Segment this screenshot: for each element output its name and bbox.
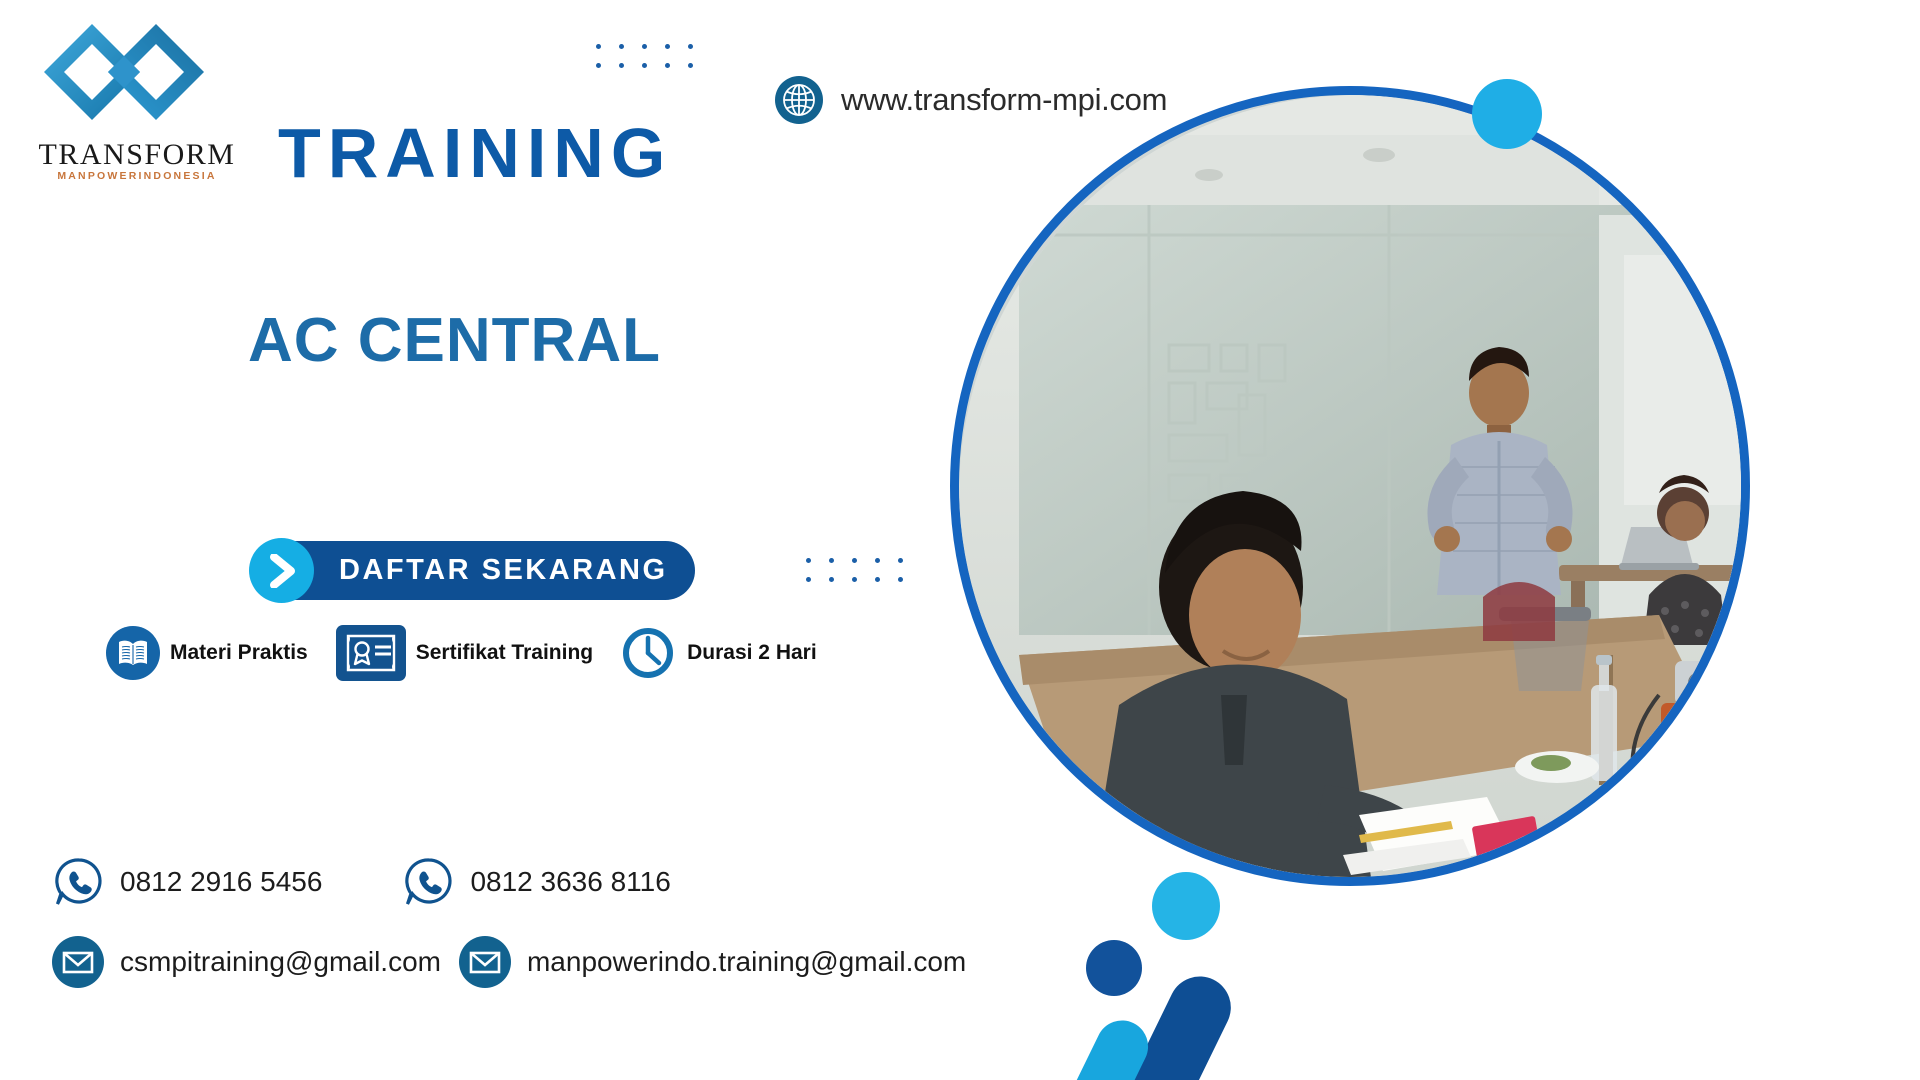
- feature-item-sertifikat-training: Sertifikat Training: [336, 625, 593, 681]
- dot: [619, 63, 624, 68]
- feature-item-durasi: Durasi 2 Hari: [621, 626, 817, 680]
- dot: [852, 558, 857, 563]
- dot: [619, 44, 624, 49]
- training-classroom-photo: [950, 86, 1750, 886]
- page-title-eyebrow: TRAINING: [278, 118, 672, 188]
- email-address[interactable]: csmpitraining@gmail.com: [120, 946, 441, 978]
- transform-diamond-icon: [44, 18, 209, 138]
- dot: [642, 63, 647, 68]
- email-address[interactable]: manpowerindo.training@gmail.com: [527, 946, 966, 978]
- email-row: csmpitraining@gmail.com manpowerindo.tra…: [52, 925, 966, 999]
- register-now-button[interactable]: DAFTAR SEKARANG: [251, 541, 695, 600]
- feature-label: Durasi 2 Hari: [687, 641, 817, 665]
- register-now-label: DAFTAR SEKARANG: [339, 554, 668, 587]
- feature-label: Sertifikat Training: [416, 641, 593, 665]
- certificate-icon: [336, 625, 406, 681]
- flyer-canvas: TRANSFORM MANPOWERINDONESIA www: [0, 0, 1920, 1080]
- dot: [852, 577, 857, 582]
- dot: [642, 44, 647, 49]
- contact-block: 0812 2916 5456 0812 3636 8116 csmpitrain…: [52, 845, 966, 999]
- logo-wordmark: TRANSFORM: [30, 140, 244, 170]
- dot: [898, 558, 903, 563]
- dot: [665, 44, 670, 49]
- photo-illustration: [959, 95, 1741, 877]
- dot: [875, 558, 880, 563]
- cyan-circle-decor: [1472, 79, 1542, 149]
- abstract-people-decor: [1010, 818, 1370, 1080]
- feature-item-materi-praktis: Materi Praktis: [106, 626, 308, 680]
- dot: [665, 63, 670, 68]
- website-row[interactable]: www.transform-mpi.com: [775, 76, 1167, 124]
- feature-list: Materi Praktis Sertifikat Training: [106, 625, 817, 681]
- page-title-topic: AC CENTRAL: [248, 310, 661, 372]
- whatsapp-phone-icon: [402, 855, 456, 909]
- dot: [829, 558, 834, 563]
- website-url[interactable]: www.transform-mpi.com: [841, 82, 1167, 118]
- contact-email-1[interactable]: csmpitraining@gmail.com: [52, 936, 441, 988]
- phone-row: 0812 2916 5456 0812 3636 8116: [52, 845, 966, 919]
- phone-number[interactable]: 0812 3636 8116: [470, 866, 670, 898]
- contact-phone-2[interactable]: 0812 3636 8116: [402, 855, 670, 909]
- dot: [875, 577, 880, 582]
- envelope-icon: [52, 936, 104, 988]
- dot: [596, 44, 601, 49]
- brand-logo: TRANSFORM MANPOWERINDONESIA: [22, 18, 252, 198]
- whatsapp-phone-icon: [52, 855, 106, 909]
- dot: [688, 63, 693, 68]
- dot: [596, 63, 601, 68]
- phone-number[interactable]: 0812 2916 5456: [120, 866, 322, 898]
- dot: [898, 577, 903, 582]
- contact-phone-1[interactable]: 0812 2916 5456: [52, 855, 322, 909]
- open-book-icon: [106, 626, 160, 680]
- clock-icon: [621, 626, 675, 680]
- globe-icon: [775, 76, 823, 124]
- contact-email-2[interactable]: manpowerindo.training@gmail.com: [459, 936, 966, 988]
- envelope-icon: [459, 936, 511, 988]
- dot: [688, 44, 693, 49]
- photo-inner: [959, 95, 1741, 877]
- dot: [829, 577, 834, 582]
- feature-label: Materi Praktis: [170, 641, 308, 665]
- dot: [806, 577, 811, 582]
- logo-tagline: MANPOWERINDONESIA: [30, 170, 244, 182]
- dot-grid-middle: [806, 558, 903, 582]
- dot: [806, 558, 811, 563]
- dot-grid-top: [596, 44, 693, 68]
- chevron-right-icon: [249, 538, 314, 603]
